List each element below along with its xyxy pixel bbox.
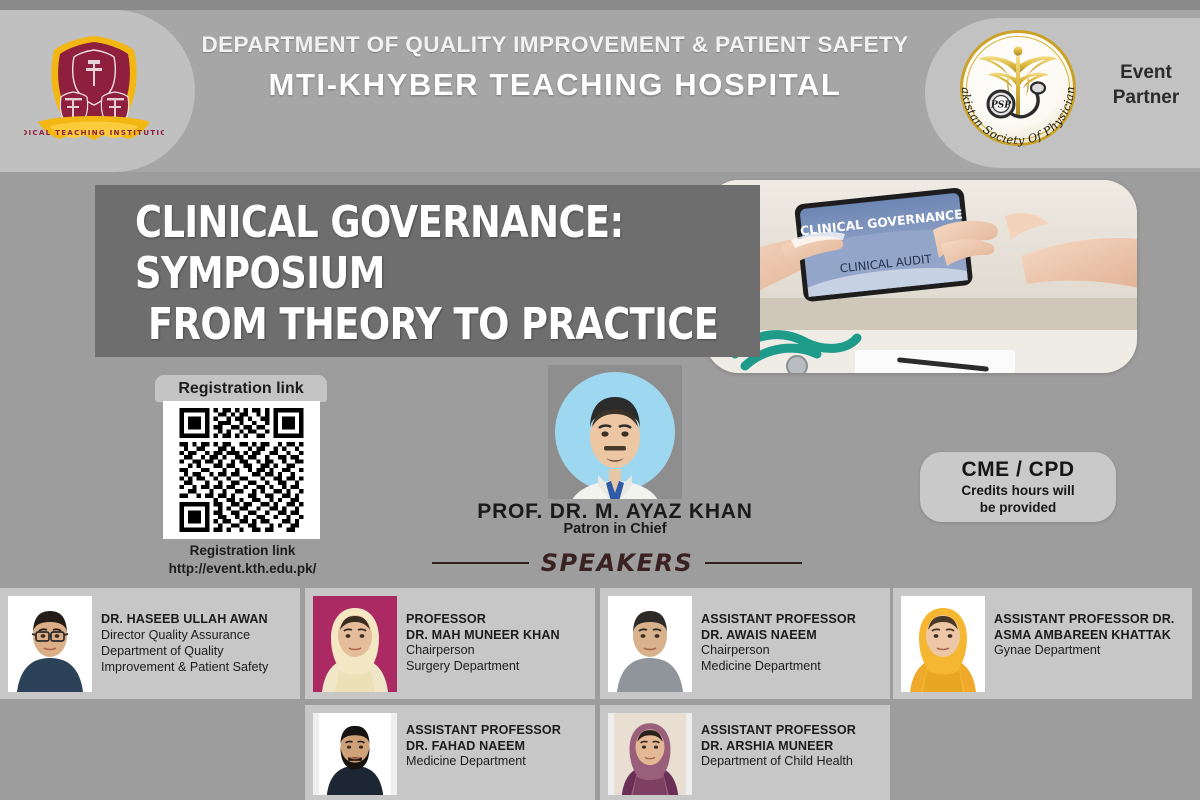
department-line: DEPARTMENT OF QUALITY IMPROVEMENT & PATI…: [200, 32, 910, 58]
speaker-subtitle: Director Quality AssuranceDepartment of …: [101, 628, 268, 676]
speaker-title: ASSISTANT PROFESSORDR. FAHAD NAEEM: [406, 723, 561, 754]
header-title-block: DEPARTMENT OF QUALITY IMPROVEMENT & PATI…: [200, 32, 910, 103]
speaker-subtitle: ChairpersonMedicine Department: [701, 643, 856, 675]
speaker-title-line: DR. FAHAD NAEEM: [406, 739, 561, 755]
speakers-divider: SPEAKERS: [432, 548, 802, 578]
speaker-info: ASSISTANT PROFESSOR DR.ASMA AMBAREEN KHA…: [985, 596, 1175, 659]
speaker-info: PROFESSORDR. MAH MUNEER KHAN Chairperson…: [397, 596, 560, 675]
speaker-card[interactable]: ASSISTANT PROFESSOR DR.ASMA AMBAREEN KHA…: [893, 588, 1192, 699]
speakers-label: SPEAKERS: [541, 549, 694, 577]
speaker-card[interactable]: DR. HASEEB ULLAH AWAN Director Quality A…: [0, 588, 300, 699]
speaker-title-line: ASMA AMBAREEN KHATTAK: [994, 628, 1175, 644]
cme-title: CME / CPD: [961, 458, 1074, 482]
registration-url[interactable]: http://event.kth.edu.pk/: [140, 560, 345, 578]
psp-monogram: PSP: [990, 101, 1011, 111]
speaker-subtitle-line: Medicine Department: [406, 754, 561, 770]
speaker-photo: [608, 713, 692, 795]
cme-cpd-badge: CME / CPD Credits hours will be provided: [920, 452, 1116, 522]
speaker-title-line: ASSISTANT PROFESSOR: [406, 723, 561, 739]
speaker-title-line: DR. HASEEB ULLAH AWAN: [101, 612, 268, 628]
speaker-subtitle-line: Director Quality Assurance: [101, 628, 268, 644]
pakistan-society-of-physicians-logo: PSP Pakistan Society Of Physicians: [944, 26, 1092, 150]
speaker-photo: [313, 713, 397, 795]
speaker-info: ASSISTANT PROFESSORDR. FAHAD NAEEM Medic…: [397, 713, 561, 770]
crest-banner-text: MEDICAL TEACHING INSTITUTIONS: [24, 128, 164, 137]
speaker-title-line: ASSISTANT PROFESSOR: [701, 723, 856, 739]
speaker-card[interactable]: PROFESSORDR. MAH MUNEER KHAN Chairperson…: [305, 588, 595, 699]
speaker-card[interactable]: ASSISTANT PROFESSORDR. AWAIS NAEEM Chair…: [600, 588, 890, 699]
speaker-subtitle: Medicine Department: [406, 754, 561, 770]
speaker-subtitle-line: Department of Child Health: [701, 754, 856, 770]
speaker-subtitle-line: Improvement & Patient Safety: [101, 660, 268, 676]
speaker-info: ASSISTANT PROFESSORDR. AWAIS NAEEM Chair…: [692, 596, 856, 675]
mti-crest-logo: MEDICAL TEACHING INSTITUTIONS: [24, 26, 164, 150]
registration-qr-code[interactable]: [163, 401, 320, 539]
title-line-2: SYMPOSIUM: [135, 248, 716, 299]
speaker-subtitle: Department of Child Health: [701, 754, 856, 770]
title-banner: CLINICAL GOVERNANCE: SYMPOSIUM FROM THEO…: [95, 185, 760, 357]
speaker-subtitle: ChairpersonSurgery Department: [406, 643, 560, 675]
speaker-title-line: ASSISTANT PROFESSOR: [701, 612, 856, 628]
speaker-subtitle-line: Chairperson: [701, 643, 856, 659]
speaker-subtitle-line: Medicine Department: [701, 659, 856, 675]
speaker-title: DR. HASEEB ULLAH AWAN: [101, 612, 268, 628]
speaker-info: ASSISTANT PROFESSORDR. ARSHIA MUNEER Dep…: [692, 713, 856, 770]
speaker-title-line: DR. ARSHIA MUNEER: [701, 739, 856, 755]
speaker-title: ASSISTANT PROFESSORDR. ARSHIA MUNEER: [701, 723, 856, 754]
speaker-title-line: DR. AWAIS NAEEM: [701, 628, 856, 644]
hero-photo: CLINICAL GOVERNANCE CLINICAL AUDIT: [705, 180, 1137, 373]
hospital-line: MTI-KHYBER TEACHING HOSPITAL: [200, 67, 910, 103]
speaker-subtitle-line: Department of Quality: [101, 644, 268, 660]
speaker-info: DR. HASEEB ULLAH AWAN Director Quality A…: [92, 596, 268, 676]
speaker-title-line: ASSISTANT PROFESSOR DR.: [994, 612, 1175, 628]
title-line-1: CLINICAL GOVERNANCE:: [135, 197, 716, 248]
registration-link-pill[interactable]: Registration link: [155, 375, 327, 402]
cme-subtitle-line-2: be provided: [961, 500, 1074, 517]
speaker-title-line: PROFESSOR: [406, 612, 560, 628]
patron-photo: [548, 365, 682, 499]
poster-canvas: MEDICAL TEACHING INSTITUTIONS DEPARTMENT…: [0, 0, 1200, 800]
event-partner-line-2: Partner: [1098, 85, 1194, 110]
speaker-subtitle-line: Surgery Department: [406, 659, 560, 675]
speaker-subtitle-line: Chairperson: [406, 643, 560, 659]
patron-role: Patron in Chief: [420, 521, 810, 537]
speaker-title-line: DR. MAH MUNEER KHAN: [406, 628, 560, 644]
event-partner-label: Event Partner: [1098, 60, 1194, 110]
title-line-3: FROM THEORY TO PRACTICE: [135, 299, 716, 350]
cme-subtitle-line-1: Credits hours will: [961, 483, 1074, 500]
speaker-title: ASSISTANT PROFESSOR DR.ASMA AMBAREEN KHA…: [994, 612, 1175, 643]
speaker-photo: [901, 596, 985, 692]
cme-subtitle: Credits hours will be provided: [961, 483, 1074, 517]
registration-caption: Registration link http://event.kth.edu.p…: [140, 542, 345, 578]
divider-rule-left: [432, 562, 529, 564]
speaker-photo: [8, 596, 92, 692]
event-partner-line-1: Event: [1098, 60, 1194, 85]
speaker-card[interactable]: ASSISTANT PROFESSORDR. ARSHIA MUNEER Dep…: [600, 705, 890, 800]
top-strip: [0, 0, 1200, 10]
divider-rule-right: [705, 562, 802, 564]
registration-caption-line-1: Registration link: [140, 542, 345, 560]
speaker-subtitle-line: Gynae Department: [994, 643, 1175, 659]
speaker-photo: [313, 596, 397, 692]
speaker-photo: [608, 596, 692, 692]
speaker-title: ASSISTANT PROFESSORDR. AWAIS NAEEM: [701, 612, 856, 643]
speaker-subtitle: Gynae Department: [994, 643, 1175, 659]
speaker-card[interactable]: ASSISTANT PROFESSORDR. FAHAD NAEEM Medic…: [305, 705, 595, 800]
speaker-title: PROFESSORDR. MAH MUNEER KHAN: [406, 612, 560, 643]
